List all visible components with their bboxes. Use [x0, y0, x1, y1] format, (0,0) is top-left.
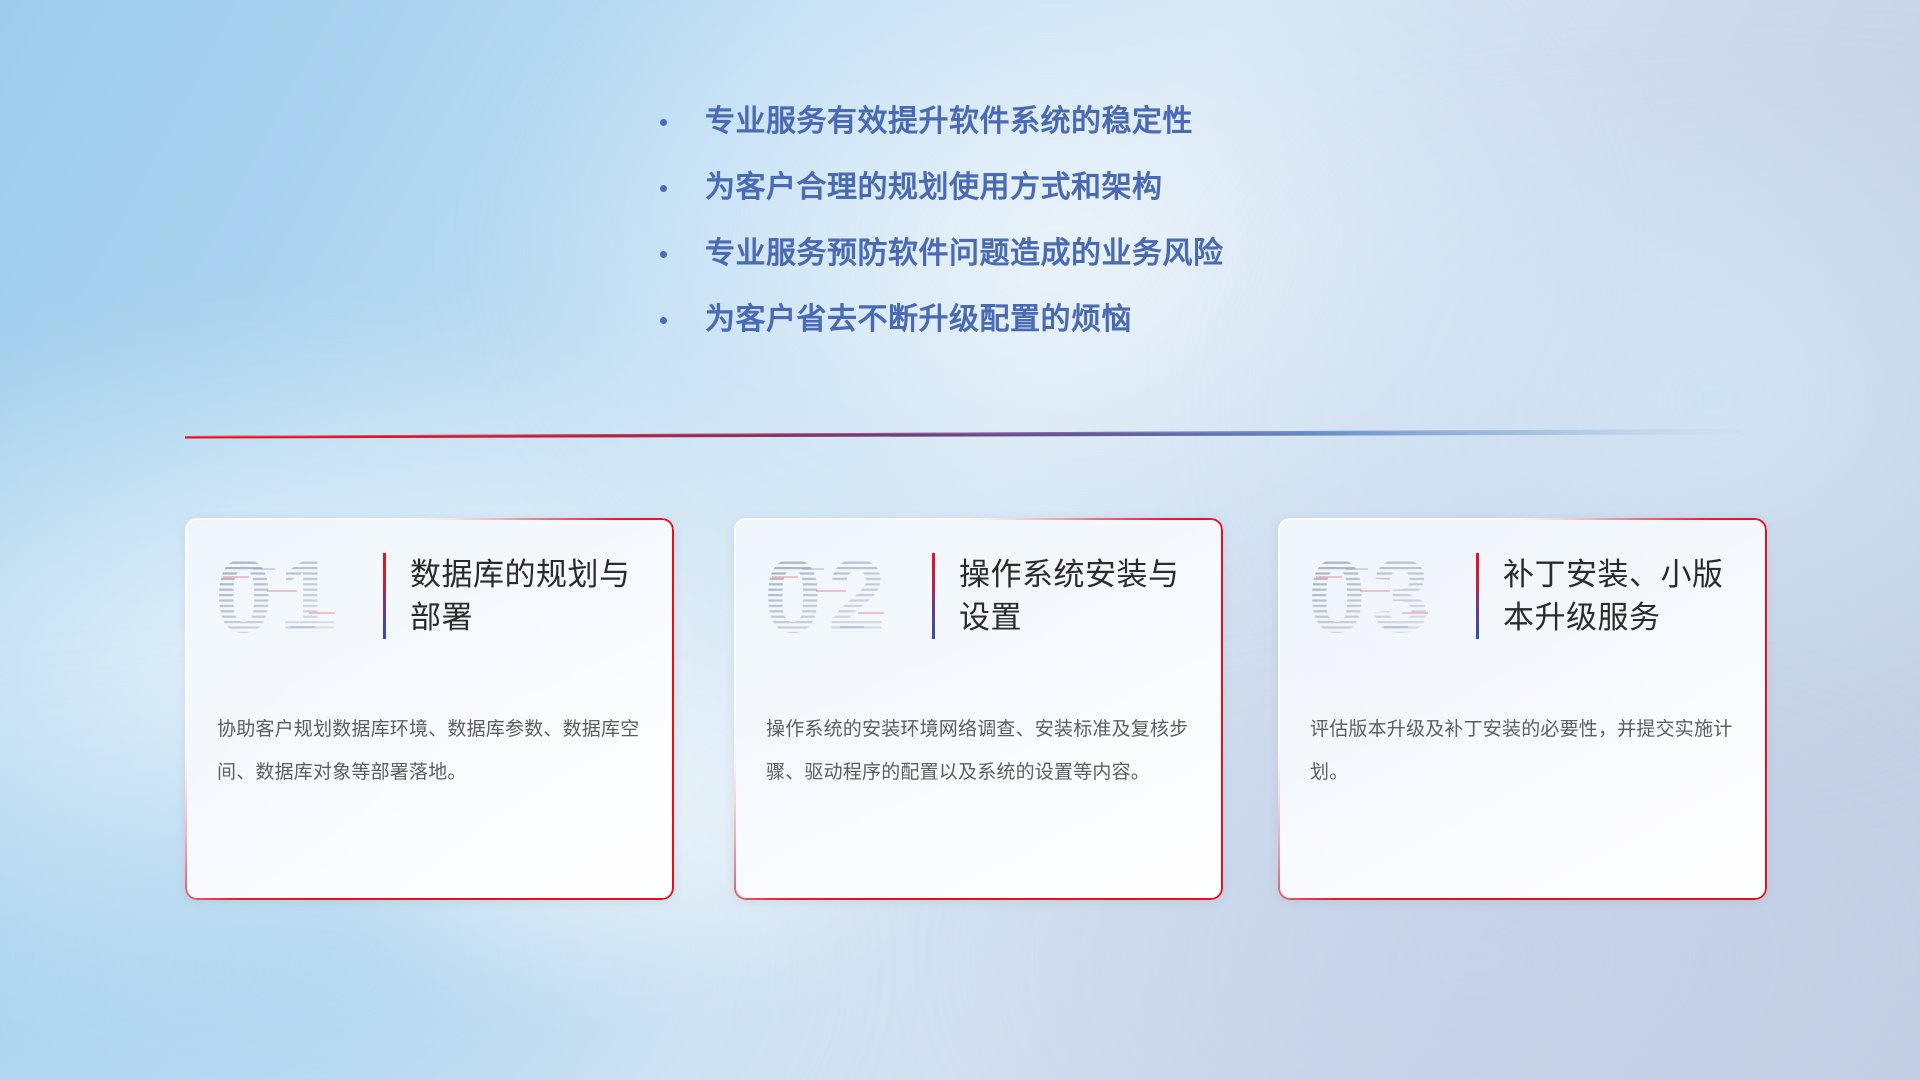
card-accent-rule	[932, 553, 935, 639]
card-number-striped: 02	[762, 540, 928, 652]
list-item: 为客户合理的规划使用方式和架构	[660, 166, 1224, 210]
gradient-divider	[185, 425, 1740, 439]
bullet-label: 专业服务预防软件问题造成的业务风险	[705, 232, 1224, 276]
service-card[interactable]: 01 数据库的规划与部署 协助客户规划数据库环境、数据库参数、数据库空间、数据库…	[185, 518, 674, 900]
service-card[interactable]: 02 操作系统安装与设置 操作系统的安装环境网络调查、安装标准及复核步骤、驱动程…	[734, 518, 1223, 900]
card-number-striped: 01	[213, 540, 379, 652]
number-glyph-icon: 02	[762, 540, 928, 652]
list-item: 为客户省去不断升级配置的烦恼	[660, 298, 1224, 342]
svg-text:02: 02	[764, 540, 892, 652]
card-description: 评估版本升级及补丁安装的必要性，并提交实施计划。	[1310, 708, 1739, 794]
card-description: 操作系统的安装环境网络调查、安装标准及复核步骤、驱动程序的配置以及系统的设置等内…	[766, 708, 1195, 794]
card-accent-rule	[383, 553, 386, 639]
bullet-dot-icon	[660, 317, 667, 324]
bullet-label: 为客户省去不断升级配置的烦恼	[705, 298, 1132, 342]
service-card[interactable]: 03 补丁安装、小版本升级服务 评估版本升级及补丁安装的必要性，并提交实施计划。	[1278, 518, 1767, 900]
bullet-dot-icon	[660, 185, 667, 192]
card-header: 02 操作系统安装与设置	[734, 540, 1223, 652]
divider-line-icon	[185, 425, 1740, 439]
list-item: 专业服务有效提升软件系统的稳定性	[660, 100, 1224, 144]
card-title: 数据库的规划与部署	[410, 553, 660, 639]
card-number-striped: 03	[1306, 540, 1472, 652]
number-glyph-icon: 03	[1306, 540, 1472, 652]
bullet-dot-icon	[660, 251, 667, 258]
service-card-row: 01 数据库的规划与部署 协助客户规划数据库环境、数据库参数、数据库空间、数据库…	[0, 518, 1920, 938]
card-title: 操作系统安装与设置	[959, 553, 1209, 639]
card-header: 01 数据库的规划与部署	[185, 540, 674, 652]
card-accent-rule	[1476, 553, 1479, 639]
bullet-label: 专业服务有效提升软件系统的稳定性	[705, 100, 1193, 144]
number-glyph-icon: 01	[213, 540, 379, 652]
card-header: 03 补丁安装、小版本升级服务	[1278, 540, 1767, 652]
card-title: 补丁安装、小版本升级服务	[1503, 553, 1753, 639]
card-description: 协助客户规划数据库环境、数据库参数、数据库空间、数据库对象等部署落地。	[217, 708, 646, 794]
bullet-dot-icon	[660, 119, 667, 126]
list-item: 专业服务预防软件问题造成的业务风险	[660, 232, 1224, 276]
benefits-bullet-list: 专业服务有效提升软件系统的稳定性 为客户合理的规划使用方式和架构 专业服务预防软…	[660, 100, 1224, 364]
svg-text:03: 03	[1308, 540, 1436, 652]
bullet-label: 为客户合理的规划使用方式和架构	[705, 166, 1163, 210]
svg-text:01: 01	[215, 540, 343, 652]
